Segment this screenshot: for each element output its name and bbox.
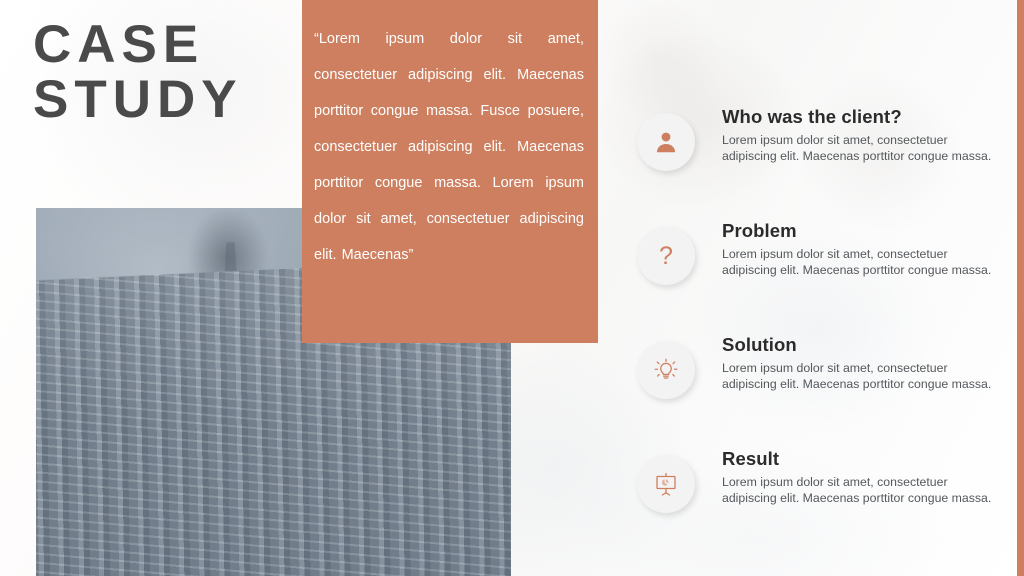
feature-heading: Result bbox=[722, 448, 1002, 470]
person-icon bbox=[653, 129, 679, 155]
feature-description: Lorem ipsum dolor sit amet, consectetuer… bbox=[722, 474, 1002, 506]
icon-circle bbox=[637, 455, 695, 513]
page-title: CASE STUDY bbox=[33, 18, 298, 127]
presentation-chart-icon bbox=[652, 470, 680, 498]
question-mark-icon: ? bbox=[653, 242, 679, 270]
right-edge-accent-stripe bbox=[1017, 0, 1024, 576]
icon-circle: ? bbox=[637, 227, 695, 285]
svg-text:?: ? bbox=[659, 242, 673, 270]
feature-text: Solution Lorem ipsum dolor sit amet, con… bbox=[722, 334, 1002, 392]
feature-heading: Solution bbox=[722, 334, 1002, 356]
page-title-line-1: CASE bbox=[33, 18, 298, 73]
feature-list: Who was the client? Lorem ipsum dolor si… bbox=[632, 100, 1012, 556]
feature-text: Who was the client? Lorem ipsum dolor si… bbox=[722, 106, 1002, 164]
feature-heading: Problem bbox=[722, 220, 1002, 242]
feature-item-problem[interactable]: ? Problem Lorem ipsum dolor sit amet, co… bbox=[632, 214, 1012, 328]
feature-text: Result Lorem ipsum dolor sit amet, conse… bbox=[722, 448, 1002, 506]
icon-circle bbox=[637, 113, 695, 171]
feature-description: Lorem ipsum dolor sit amet, consectetuer… bbox=[722, 246, 1002, 278]
icon-circle bbox=[637, 341, 695, 399]
page-title-line-2: STUDY bbox=[33, 73, 298, 128]
feature-heading: Who was the client? bbox=[722, 106, 1002, 128]
feature-item-client[interactable]: Who was the client? Lorem ipsum dolor si… bbox=[632, 100, 1012, 214]
lightbulb-icon bbox=[652, 356, 680, 384]
feature-item-result[interactable]: Result Lorem ipsum dolor sit amet, conse… bbox=[632, 442, 1012, 556]
feature-text: Problem Lorem ipsum dolor sit amet, cons… bbox=[722, 220, 1002, 278]
feature-description: Lorem ipsum dolor sit amet, consectetuer… bbox=[722, 360, 1002, 392]
quote-text: “Lorem ipsum dolor sit amet, consectetue… bbox=[314, 22, 584, 274]
feature-item-solution[interactable]: Solution Lorem ipsum dolor sit amet, con… bbox=[632, 328, 1012, 442]
feature-description: Lorem ipsum dolor sit amet, consectetuer… bbox=[722, 132, 1002, 164]
quote-panel: “Lorem ipsum dolor sit amet, consectetue… bbox=[302, 0, 598, 343]
case-study-slide: CASE STUDY “Lorem ipsum dolor sit amet, … bbox=[0, 0, 1024, 576]
